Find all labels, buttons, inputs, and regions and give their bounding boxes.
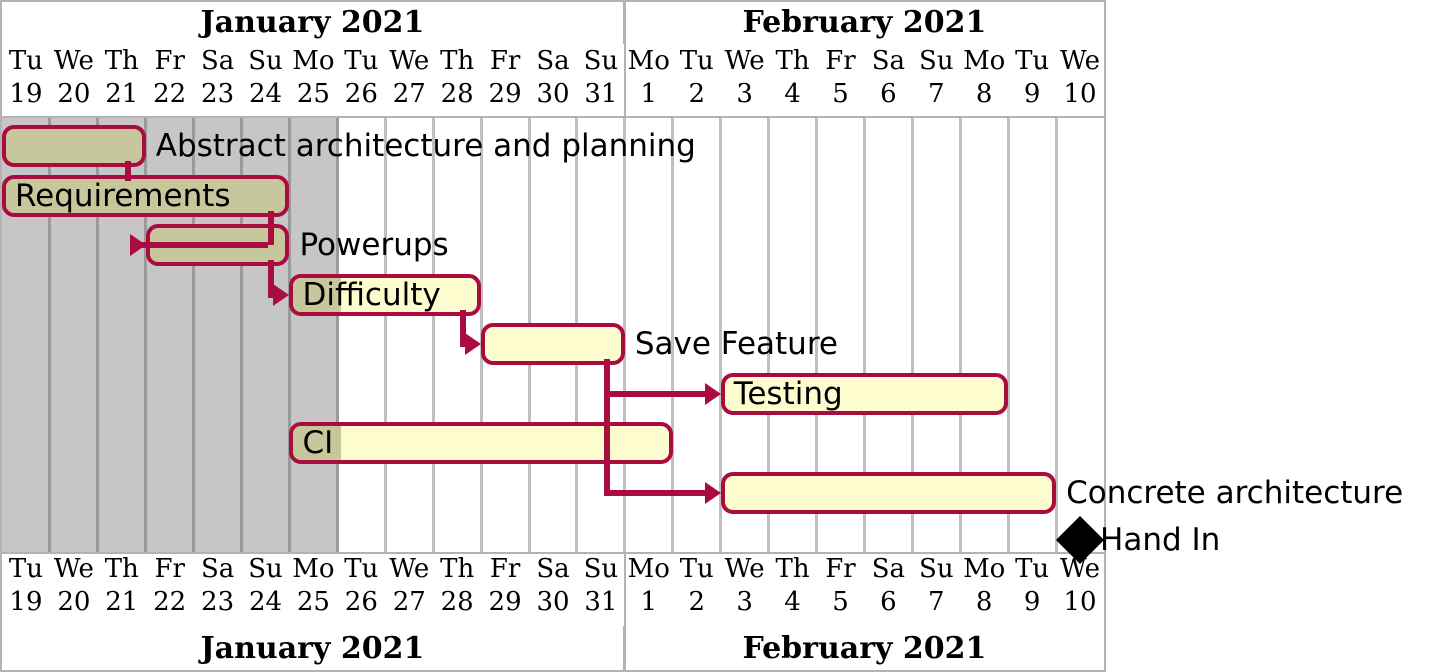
day-of-week-label: Th <box>440 48 474 74</box>
month-label-1: January 2021 <box>2 0 625 44</box>
day-of-week-label: Tu <box>1015 48 1049 74</box>
day-of-week-label: Mo <box>963 556 1005 582</box>
day-header-cell-27: We27 <box>385 44 433 118</box>
day-number-label: 26 <box>345 81 378 107</box>
day-number-label: 21 <box>105 81 138 107</box>
day-header-top: Tu19We20Th21Fr22Sa23Su24Mo25Tu26We27Th28… <box>0 44 1106 118</box>
day-header-cell-10: We10 <box>1056 44 1104 118</box>
task-label: CI <box>293 426 668 460</box>
day-of-week-label: Tu <box>1015 556 1049 582</box>
day-number-label: 30 <box>536 81 569 107</box>
day-of-week-label: Su <box>248 48 283 74</box>
day-of-week-label: Fr <box>154 556 184 582</box>
day-header-cell-1: Mo1 <box>625 44 673 118</box>
dependency-line-horizontal <box>604 490 707 496</box>
day-number-label: 20 <box>57 81 90 107</box>
day-of-week-label: Su <box>919 48 954 74</box>
day-header-cell-20: We20 <box>50 44 98 118</box>
day-of-week-label: We <box>1060 48 1100 74</box>
day-number-label: 9 <box>1024 81 1041 107</box>
day-number-label: 30 <box>536 589 569 615</box>
month-label-footer-2: February 2021 <box>625 626 1104 670</box>
day-footer-cell-24: Su24 <box>242 552 290 626</box>
dependency-line-vertical <box>268 211 274 246</box>
day-footer-cell-8: Mo8 <box>960 552 1008 626</box>
milestone-label: Hand In <box>1100 519 1220 561</box>
day-of-week-label: Fr <box>490 556 520 582</box>
day-number-label: 10 <box>1063 81 1096 107</box>
month-label-2: February 2021 <box>625 0 1104 44</box>
day-header-cell-4: Th4 <box>769 44 817 118</box>
day-number-label: 27 <box>393 81 426 107</box>
task-bar[interactable] <box>721 472 1056 514</box>
gridline-day-26 <box>336 118 339 552</box>
day-of-week-label: Th <box>105 556 139 582</box>
day-of-week-label: Th <box>105 48 139 74</box>
day-of-week-label: Tu <box>344 556 378 582</box>
day-number-label: 4 <box>784 81 801 107</box>
day-header-cell-21: Th21 <box>98 44 146 118</box>
day-footer-cell-1: Mo1 <box>625 552 673 626</box>
day-header-cell-26: Tu26 <box>337 44 385 118</box>
day-of-week-label: Tu <box>9 556 43 582</box>
day-of-week-label: Fr <box>825 556 855 582</box>
day-of-week-label: Mo <box>292 556 334 582</box>
day-of-week-label: Tu <box>344 48 378 74</box>
day-of-week-label: Su <box>248 556 283 582</box>
day-header-cell-19: Tu19 <box>2 44 50 118</box>
day-number-label: 25 <box>297 589 330 615</box>
task-bar[interactable]: Testing <box>721 373 1008 415</box>
day-of-week-label: Fr <box>490 48 520 74</box>
day-header-cell-25: Mo25 <box>289 44 337 118</box>
day-footer-cell-25: Mo25 <box>289 552 337 626</box>
day-header-cell-7: Su7 <box>912 44 960 118</box>
day-header-cell-22: Fr22 <box>146 44 194 118</box>
day-of-week-label: Tu <box>9 48 43 74</box>
day-number-label: 3 <box>736 589 753 615</box>
day-of-week-label: Sa <box>201 48 234 74</box>
gridline-day-27 <box>384 118 387 552</box>
day-number-label: 2 <box>688 589 705 615</box>
day-header-cell-28: Th28 <box>433 44 481 118</box>
day-number-label: 26 <box>345 589 378 615</box>
day-header-cell-8: Mo8 <box>960 44 1008 118</box>
day-header-cell-5: Fr5 <box>817 44 865 118</box>
month-header-top: January 2021February 2021 <box>0 0 1106 44</box>
day-of-week-label: Su <box>584 48 619 74</box>
day-header-cell-2: Tu2 <box>673 44 721 118</box>
day-number-label: 19 <box>9 81 42 107</box>
day-footer-cell-22: Fr22 <box>146 552 194 626</box>
day-of-week-label: We <box>1060 556 1100 582</box>
day-of-week-label: Sa <box>872 556 905 582</box>
day-of-week-label: Tu <box>680 556 714 582</box>
day-number-label: 22 <box>153 81 186 107</box>
day-number-label: 8 <box>976 589 993 615</box>
day-of-week-label: Su <box>919 556 954 582</box>
day-footer-cell-23: Sa23 <box>194 552 242 626</box>
day-of-week-label: We <box>54 556 94 582</box>
gantt-plot-area: Abstract architecture and planningRequir… <box>2 118 1104 552</box>
day-of-week-label: Fr <box>154 48 184 74</box>
day-footer-cell-19: Tu19 <box>2 552 50 626</box>
day-of-week-label: Sa <box>872 48 905 74</box>
day-footer-cell-10: We10 <box>1056 552 1104 626</box>
task-label: Abstract architecture and planning <box>156 125 696 167</box>
day-number-label: 3 <box>736 81 753 107</box>
day-number-label: 8 <box>976 81 993 107</box>
day-number-label: 10 <box>1063 589 1096 615</box>
task-bar[interactable]: Requirements <box>2 175 289 217</box>
day-number-label: 23 <box>201 81 234 107</box>
day-number-label: 21 <box>105 589 138 615</box>
day-number-label: 22 <box>153 589 186 615</box>
dependency-line-horizontal <box>604 391 707 397</box>
day-footer-cell-9: Tu9 <box>1008 552 1056 626</box>
task-label: Powerups <box>299 224 448 266</box>
dependency-arrow-head-icon <box>705 383 721 405</box>
task-bar[interactable]: CI <box>289 422 672 464</box>
day-number-label: 5 <box>832 589 849 615</box>
day-header-cell-9: Tu9 <box>1008 44 1056 118</box>
day-footer-cell-2: Tu2 <box>673 552 721 626</box>
day-of-week-label: Mo <box>628 556 670 582</box>
day-footer-cell-28: Th28 <box>433 552 481 626</box>
day-header-cell-3: We3 <box>721 44 769 118</box>
day-of-week-label: Th <box>776 556 810 582</box>
day-number-label: 6 <box>880 589 897 615</box>
gridline-day-28 <box>432 118 435 552</box>
day-number-label: 29 <box>489 81 522 107</box>
day-of-week-label: We <box>389 556 429 582</box>
day-number-label: 28 <box>441 81 474 107</box>
task-label: Concrete architecture <box>1066 472 1403 514</box>
day-number-label: 31 <box>584 589 617 615</box>
day-of-week-label: We <box>725 556 765 582</box>
task-label: Requirements <box>6 179 285 213</box>
month-separator-header <box>624 0 626 118</box>
day-footer-cell-27: We27 <box>385 552 433 626</box>
day-of-week-label: Su <box>584 556 619 582</box>
day-number-label: 24 <box>249 81 282 107</box>
task-label: Testing <box>725 377 1004 411</box>
month-separator-footer <box>624 552 626 670</box>
day-header-bottom: Tu19We20Th21Fr22Sa23Su24Mo25Tu26We27Th28… <box>0 552 1106 626</box>
day-of-week-label: Sa <box>536 556 569 582</box>
day-of-week-label: We <box>725 48 765 74</box>
day-number-label: 1 <box>641 589 658 615</box>
day-header-cell-23: Sa23 <box>194 44 242 118</box>
day-number-label: 29 <box>489 589 522 615</box>
day-number-label: 2 <box>688 81 705 107</box>
dependency-line-horizontal <box>132 242 269 248</box>
task-label: Save Feature <box>635 323 838 365</box>
day-footer-cell-26: Tu26 <box>337 552 385 626</box>
day-number-label: 31 <box>584 81 617 107</box>
day-of-week-label: Tu <box>680 48 714 74</box>
day-number-label: 28 <box>441 589 474 615</box>
day-footer-cell-30: Sa30 <box>529 552 577 626</box>
day-of-week-label: Sa <box>201 556 234 582</box>
gantt-chart: January 2021February 2021 Tu19We20Th21Fr… <box>0 0 1434 672</box>
day-number-label: 9 <box>1024 589 1041 615</box>
month-label-footer-1: January 2021 <box>2 626 625 670</box>
day-number-label: 7 <box>928 589 945 615</box>
day-of-week-label: Sa <box>536 48 569 74</box>
day-header-cell-29: Fr29 <box>481 44 529 118</box>
day-header-cell-6: Sa6 <box>864 44 912 118</box>
day-header-cell-24: Su24 <box>242 44 290 118</box>
day-of-week-label: We <box>389 48 429 74</box>
day-number-label: 1 <box>641 81 658 107</box>
month-footer-bottom: January 2021February 2021 <box>0 626 1106 670</box>
day-footer-cell-7: Su7 <box>912 552 960 626</box>
dependency-arrow-head-icon <box>465 333 481 355</box>
day-number-label: 24 <box>249 589 282 615</box>
dependency-arrow-head-icon <box>273 284 289 306</box>
day-number-label: 6 <box>880 81 897 107</box>
day-of-week-label: Th <box>440 556 474 582</box>
dependency-arrow-head-icon <box>130 234 146 256</box>
day-of-week-label: Fr <box>825 48 855 74</box>
day-header-cell-30: Sa30 <box>529 44 577 118</box>
day-footer-cell-31: Su31 <box>577 552 625 626</box>
task-bar[interactable]: Difficulty <box>289 274 481 316</box>
day-footer-cell-29: Fr29 <box>481 552 529 626</box>
day-header-cell-31: Su31 <box>577 44 625 118</box>
day-number-label: 23 <box>201 589 234 615</box>
day-number-label: 25 <box>297 81 330 107</box>
day-footer-cell-21: Th21 <box>98 552 146 626</box>
dependency-arrow-head-icon <box>705 482 721 504</box>
day-footer-cell-5: Fr5 <box>817 552 865 626</box>
day-footer-cell-3: We3 <box>721 552 769 626</box>
day-number-label: 27 <box>393 589 426 615</box>
day-of-week-label: Mo <box>628 48 670 74</box>
task-label: Difficulty <box>293 278 477 312</box>
day-of-week-label: Mo <box>963 48 1005 74</box>
day-number-label: 20 <box>57 589 90 615</box>
day-footer-cell-4: Th4 <box>769 552 817 626</box>
day-of-week-label: Th <box>776 48 810 74</box>
day-footer-cell-6: Sa6 <box>864 552 912 626</box>
day-number-label: 4 <box>784 589 801 615</box>
day-of-week-label: We <box>54 48 94 74</box>
day-number-label: 7 <box>928 81 945 107</box>
day-footer-cell-20: We20 <box>50 552 98 626</box>
day-number-label: 5 <box>832 81 849 107</box>
day-number-label: 19 <box>9 589 42 615</box>
day-of-week-label: Mo <box>292 48 334 74</box>
